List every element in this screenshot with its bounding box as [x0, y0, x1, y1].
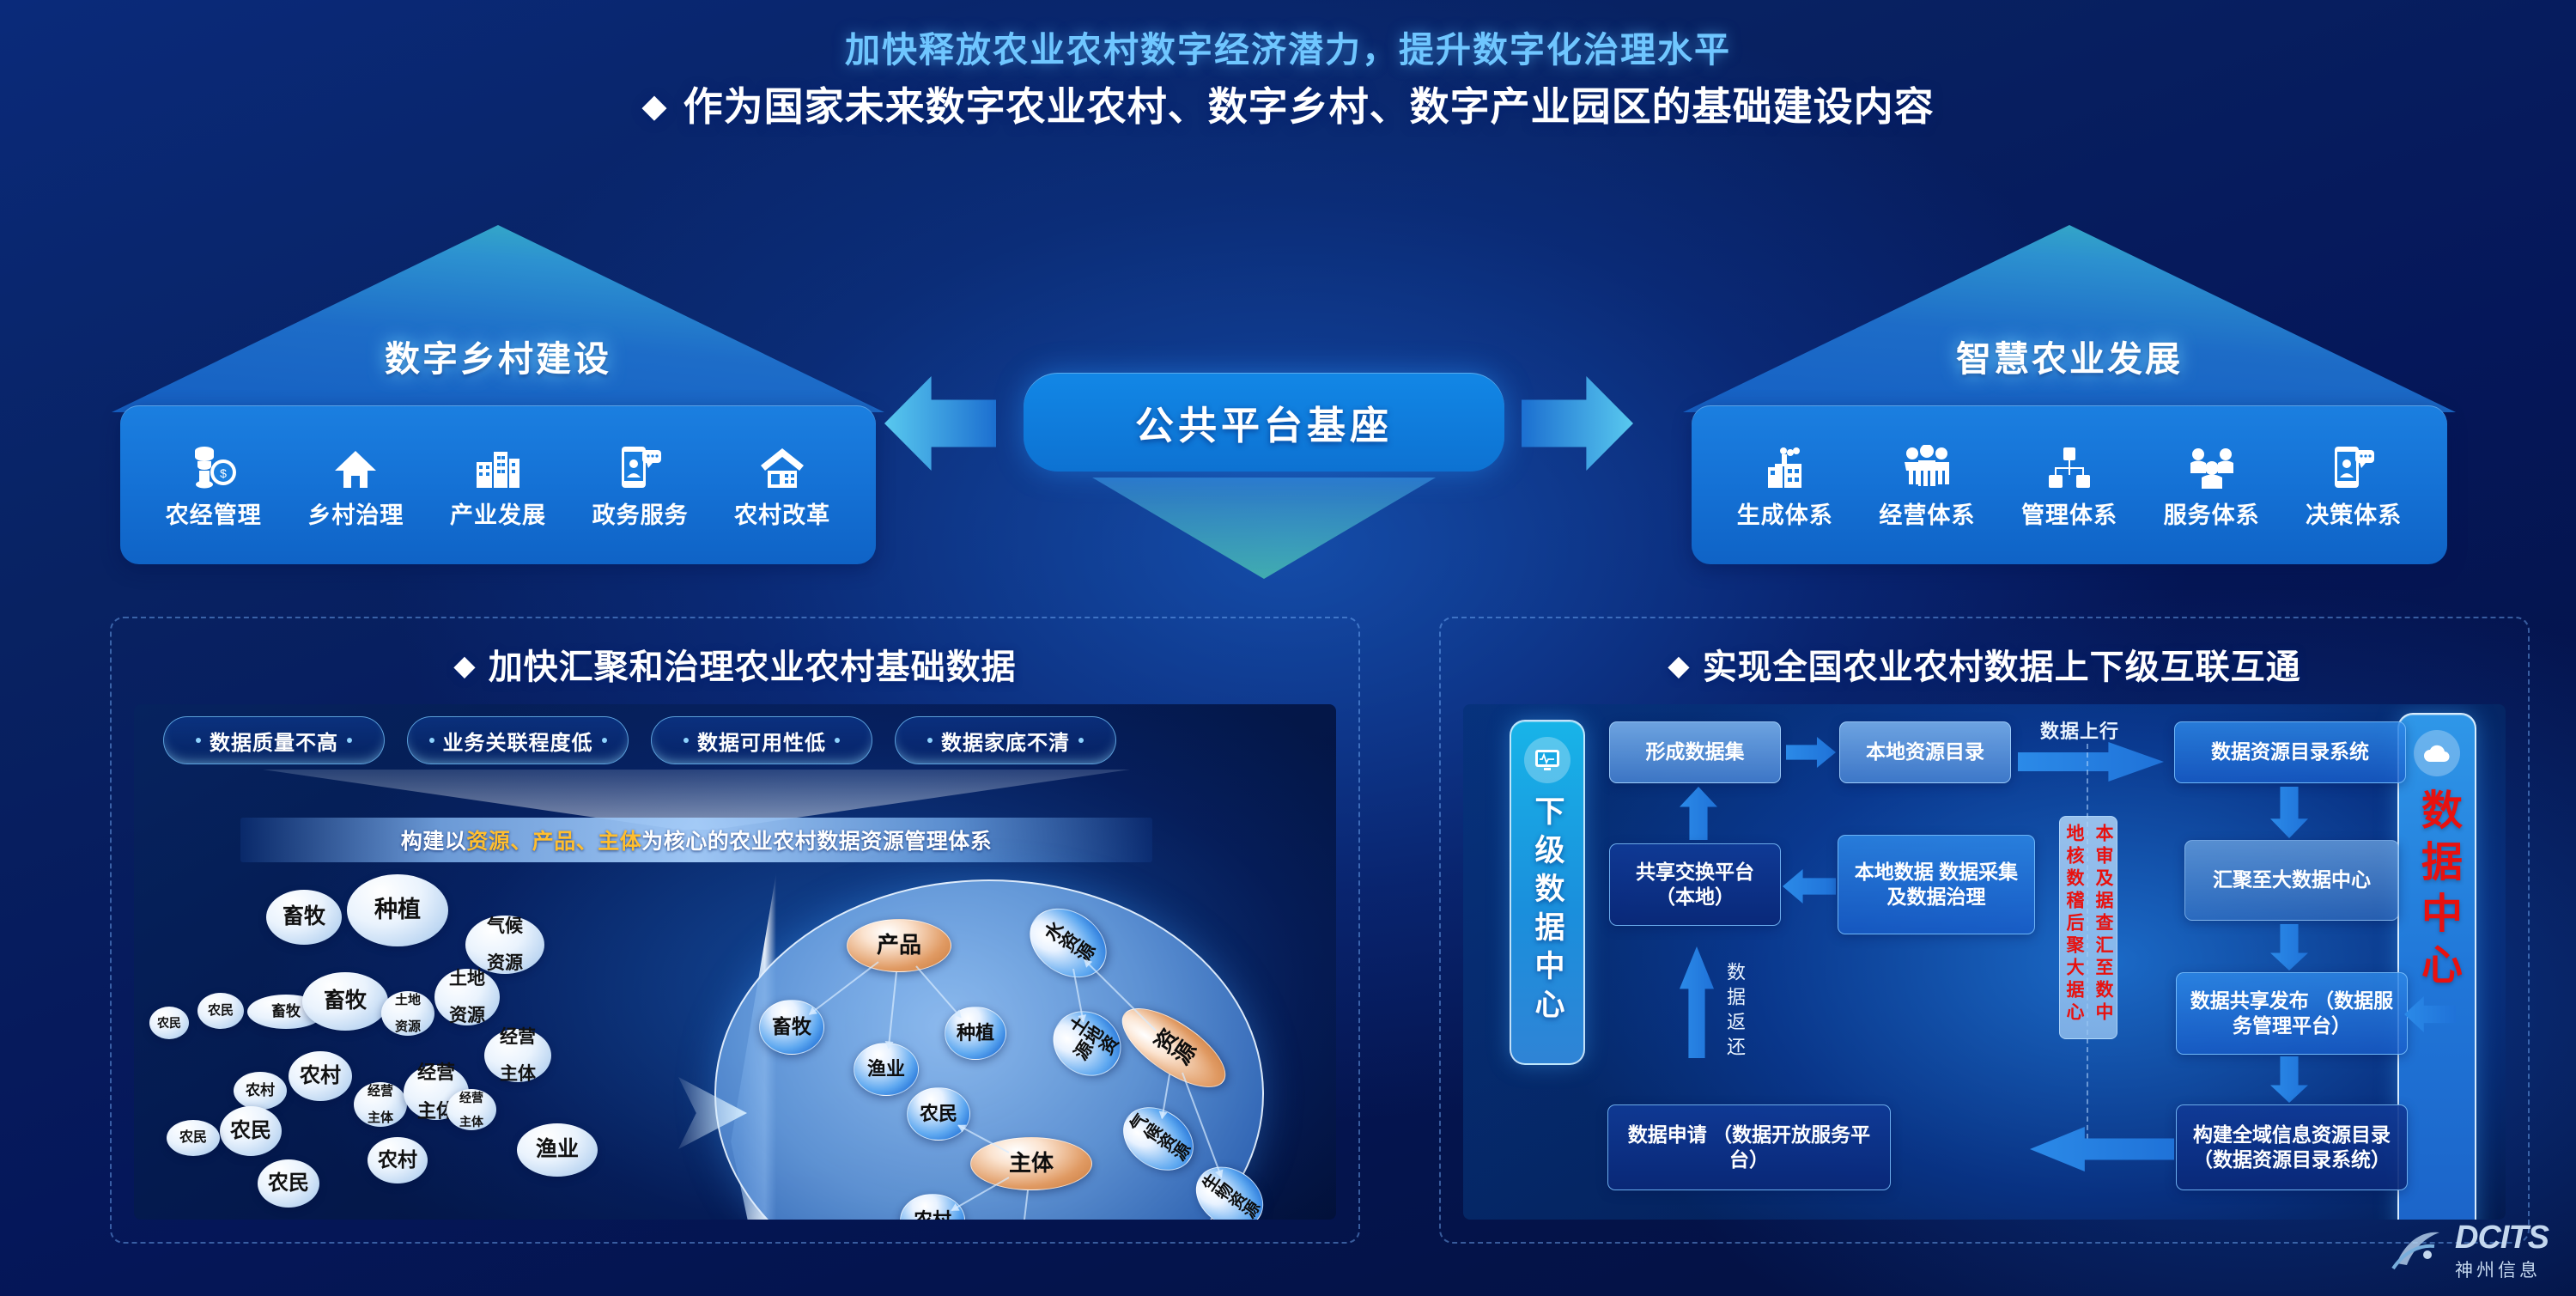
- box-text: 本地资源目录: [1866, 739, 1984, 764]
- bullet-dot-icon: [196, 738, 201, 743]
- issue-pill-label: 数据可用性低: [697, 726, 826, 756]
- feature-operation-system[interactable]: 经营体系: [1862, 440, 1991, 530]
- issue-pill-label: 数据家底不清: [941, 726, 1070, 756]
- box-text: 构建全域信息资源目录 （数据资源目录系统）: [2185, 1123, 2398, 1173]
- core-bubble: 农民: [907, 1087, 970, 1141]
- relation-arrow-icon: [1161, 1074, 1170, 1117]
- messy-bubble: 经营主体: [484, 1029, 551, 1082]
- messy-bubble: 渔业: [517, 1123, 598, 1177]
- factory-icon: [1763, 440, 1807, 490]
- box-local-catalog[interactable]: 本地资源目录: [1839, 721, 2011, 783]
- panel-heading-right-text: 实现全国农业农村数据上下级互联互通: [1703, 648, 2301, 686]
- arrow-downstream-icon: [2030, 1127, 2174, 1171]
- bullet-dot-icon: [835, 738, 840, 743]
- banner-highlight: 资源、产品、主体: [466, 824, 641, 855]
- bullet-dot-icon: [429, 738, 434, 743]
- box-catalog-system[interactable]: 数据资源目录系统: [2174, 721, 2406, 783]
- messy-bubble: 农民: [258, 1159, 319, 1208]
- slide-canvas: 加快释放农业农村数字经济潜力，提升数字化治理水平 ◆作为国家未来数字农业农村、数…: [0, 0, 2576, 1296]
- issue-pill-label: 数据质量不高: [210, 726, 338, 756]
- dcits-mark-icon: [2390, 1224, 2446, 1281]
- diamond-bullet-icon: ◆: [453, 648, 476, 682]
- bullet-dot-icon: [1078, 738, 1084, 743]
- red-note-col-left: 本审及据查汇至数中: [2090, 824, 2116, 1031]
- banner-prefix: 构建以: [401, 824, 467, 855]
- messy-bubble: 种植: [347, 874, 448, 946]
- red-vertical-note: 地核数稽后聚大据心 本审及据查汇至数中: [2059, 816, 2117, 1039]
- core-bubble: 主体: [970, 1137, 1092, 1190]
- core-bubble: 资源: [1110, 994, 1237, 1102]
- box-local-data[interactable]: 本地数据 数据采集及数据治理: [1838, 835, 2035, 934]
- roof-label-smart-agriculture: 智慧农业发展: [1683, 330, 2456, 381]
- box-text: 数据申请 （数据开放服务平台）: [1617, 1123, 1881, 1173]
- arrow-catalog-to-aggregate-icon: [2270, 787, 2308, 838]
- panel-heading-left: ◆加快汇聚和治理农业农村基础数据: [112, 639, 1358, 689]
- messy-bubble: 土地资源: [381, 991, 434, 1036]
- box-text: 数据共享发布 （数据服务管理平台）: [2185, 989, 2398, 1039]
- feature-label: 决策体系: [2306, 496, 2402, 530]
- arrow-publish-to-globalcatalog-icon: [2270, 1056, 2308, 1103]
- issue-pill[interactable]: 数据可用性低: [651, 716, 872, 764]
- panel-data-aggregation: ◆加快汇聚和治理农业农村基础数据 数据质量不高业务关联程度低数据可用性低数据家底…: [110, 617, 1360, 1244]
- logo-cn: 神州信息: [2455, 1256, 2549, 1282]
- bullet-dot-icon: [927, 738, 933, 743]
- diamond-bullet-icon: ◆: [1668, 648, 1690, 682]
- core-bubble: 水资源: [1017, 894, 1120, 991]
- roof-shape: [112, 225, 884, 412]
- box-share-publish[interactable]: 数据共享发布 （数据服务管理平台）: [2176, 972, 2408, 1055]
- arrow-to-right-icon: [1522, 376, 1633, 471]
- messy-bubble: 经营主体: [354, 1082, 407, 1127]
- issue-pill-list: 数据质量不高业务关联程度低数据可用性低数据家底不清: [163, 716, 1116, 764]
- relation-arrow-icon: [809, 961, 879, 1015]
- label-data-upstream: 数据上行: [2040, 716, 2119, 744]
- box-text: 共享交换平台 （本地）: [1619, 860, 1771, 910]
- core-bubble: 产品: [847, 919, 951, 972]
- feature-label: 经营体系: [1879, 496, 1975, 530]
- feature-management-system[interactable]: 管理体系: [2005, 440, 2134, 530]
- org-chart-icon: [2046, 440, 2093, 490]
- relation-arrow-icon: [915, 965, 962, 1018]
- box-exchange-platform[interactable]: 共享交换平台 （本地）: [1609, 843, 1781, 926]
- cloud-icon: [2414, 730, 2460, 776]
- feature-agri-econ-mgmt[interactable]: $ 农经管理: [149, 440, 278, 530]
- core-ellipse: 产品主体资源畜牧渔业种植农民农村经营主体水资源土地资源气候资源生物资源: [714, 879, 1264, 1220]
- issue-pill[interactable]: 数据家底不清: [895, 716, 1116, 764]
- mobile-service-icon: [618, 440, 663, 490]
- core-bubble: 生物资源: [1184, 1154, 1274, 1220]
- data-center-bar[interactable]: 数据中心: [2397, 713, 2476, 1220]
- home-icon: [333, 440, 378, 490]
- svg-text:$: $: [220, 466, 227, 480]
- arrow-dataset-to-catalog-icon: [1786, 737, 1836, 768]
- service-people-icon: [2188, 440, 2236, 490]
- box-text: 本地数据 数据采集及数据治理: [1847, 860, 2026, 910]
- bullet-dot-icon: [347, 738, 352, 743]
- messy-bubble: 畜牧: [266, 890, 342, 945]
- arrow-aggregate-to-publish-icon: [2270, 924, 2308, 970]
- feature-production-system[interactable]: 生成体系: [1721, 440, 1850, 530]
- diamond-bullet-icon: ◆: [641, 87, 667, 125]
- coin-stack-icon: $: [190, 440, 238, 490]
- brand-logo: DCITS 神州信息: [2390, 1221, 2549, 1282]
- feature-village-governance[interactable]: 乡村治理: [291, 440, 420, 530]
- data-center-label: 数据中心: [2407, 788, 2467, 995]
- core-banner: 构建以资源、产品、主体为核心的农业农村数据资源管理体系: [240, 818, 1152, 862]
- feature-service-system[interactable]: 服务体系: [2148, 440, 2276, 530]
- feature-rural-reform[interactable]: 农村改革: [718, 440, 847, 530]
- messy-bubble: 农民: [149, 1007, 189, 1039]
- bullet-dot-icon: [602, 738, 607, 743]
- people-group-icon: [1902, 440, 1952, 490]
- messy-bubble: 土地资源: [434, 969, 500, 1025]
- messy-bubble: 农村: [234, 1072, 287, 1110]
- sub-data-center-label: 下级数据中心: [1526, 795, 1570, 1027]
- roof-shape: [1683, 225, 2456, 412]
- arrow-down-icon: [1092, 478, 1436, 579]
- box-data-request[interactable]: 数据申请 （数据开放服务平台）: [1607, 1104, 1891, 1190]
- bullet-dot-icon: [683, 738, 689, 743]
- panel-data-interconnect: ◆实现全国农业农村数据上下级互联互通 下级数据中心 数据中心 形成数据集 本地资: [1439, 617, 2530, 1244]
- feature-label: 生成体系: [1737, 496, 1833, 530]
- feature-bar-smart-agriculture: 生成体系 经营体系 管理体系 服务体系: [1692, 405, 2447, 564]
- feature-label: 政务服务: [592, 496, 689, 530]
- messy-bubble: 经营主体: [447, 1089, 496, 1130]
- panel-heading-left-text: 加快汇聚和治理农业农村基础数据: [489, 648, 1017, 686]
- relation-arrow-icon: [1023, 1190, 1029, 1220]
- core-bubble: 渔业: [854, 1043, 919, 1096]
- panel-heading-right: ◆实现全国农业农村数据上下级互联互通: [1441, 639, 2528, 689]
- feature-gov-service[interactable]: 政务服务: [576, 440, 705, 530]
- feature-label: 管理体系: [2021, 496, 2117, 530]
- messy-bubble: 农民: [167, 1120, 220, 1156]
- messy-bubble: 农民: [197, 993, 244, 1029]
- box-text: 形成数据集: [1646, 739, 1745, 764]
- platform-label: 公共平台基座: [1135, 394, 1393, 450]
- messy-bubble: 农村: [368, 1137, 428, 1183]
- feature-label: 农村改革: [734, 496, 830, 530]
- logo-en: DCITS: [2455, 1221, 2549, 1254]
- page-title: 加快释放农业农村数字经济潜力，提升数字化治理水平: [0, 21, 2576, 72]
- village-house-icon: [759, 440, 805, 490]
- page-subtitle-text: 作为国家未来数字农业农村、数字乡村、数字产业园区的基础建设内容: [683, 84, 1935, 129]
- issue-pill[interactable]: 业务关联程度低: [407, 716, 629, 764]
- messy-bubble: 畜牧: [302, 972, 388, 1031]
- sub-data-center-bar[interactable]: 下级数据中心: [1510, 720, 1585, 1065]
- messy-bubble: 农民: [220, 1106, 282, 1156]
- arrow-upstream-icon: [2018, 742, 2164, 782]
- messy-bubble: 农村: [289, 1051, 352, 1101]
- core-bubble: 气候资源: [1111, 1094, 1206, 1183]
- box-aggregate-to-bigdata[interactable]: 汇聚至大数据中心: [2184, 840, 2399, 921]
- roof-label-digital-village: 数字乡村建设: [112, 330, 884, 381]
- banner-suffix: 为核心的农业农村数据资源管理体系: [641, 824, 992, 855]
- house-digital-village: 数字乡村建设 $ 农经管理 乡村治理 产业发展: [112, 225, 884, 569]
- core-bubble: 土地资源: [1041, 998, 1133, 1089]
- issue-pill[interactable]: 数据质量不高: [163, 716, 385, 764]
- arrow-exchange-to-dataset-icon: [1680, 787, 1717, 840]
- issue-pill-label: 业务关联程度低: [443, 726, 593, 756]
- red-note-col-right: 地核数稽后聚大据心: [2061, 824, 2087, 1031]
- monitor-pulse-icon: [1524, 737, 1571, 783]
- house-smart-agriculture: 智慧农业发展 生成体系 经营体系 管理体系: [1683, 225, 2456, 569]
- box-global-catalog[interactable]: 构建全域信息资源目录 （数据资源目录系统）: [2176, 1104, 2408, 1190]
- box-text: 汇聚至大数据中心: [2213, 867, 2371, 892]
- label-data-return: 数据返还: [1721, 962, 1748, 1062]
- arrow-localdata-to-exchange-icon: [1783, 869, 1836, 904]
- left-diagram: 数据质量不高业务关联程度低数据可用性低数据家底不清 构建以资源、产品、主体为核心…: [134, 704, 1336, 1220]
- mobile-service-icon: [2331, 440, 2376, 490]
- arrow-to-left-icon: [884, 376, 996, 471]
- feature-label: 产业发展: [450, 496, 546, 530]
- bubble-area: 畜牧种植气候资源农民农民畜牧畜牧土地资源土地资源经营主体农村农村农民农民农民经营…: [148, 873, 1333, 1220]
- box-text: 数据资源目录系统: [2211, 739, 2369, 764]
- right-flowchart: 下级数据中心 数据中心 形成数据集 本地资源目录 数据上行 数据资源目录系统: [1463, 704, 2506, 1220]
- relation-arrow-icon: [888, 972, 897, 1048]
- feature-label: 农经管理: [166, 496, 262, 530]
- feature-label: 服务体系: [2164, 496, 2260, 530]
- page-subtitle: ◆作为国家未来数字农业农村、数字乡村、数字产业园区的基础建设内容: [0, 76, 2576, 132]
- feature-decision-system[interactable]: 决策体系: [2289, 440, 2418, 530]
- feature-label: 乡村治理: [307, 496, 404, 530]
- public-platform-base[interactable]: 公共平台基座: [1024, 373, 1504, 472]
- relation-arrow-icon: [951, 1177, 1009, 1211]
- feature-bar-digital-village: $ 农经管理 乡村治理 产业发展 政务服务: [120, 405, 876, 564]
- buildings-icon: [475, 440, 521, 490]
- feature-industry-dev[interactable]: 产业发展: [434, 440, 562, 530]
- box-form-dataset[interactable]: 形成数据集: [1609, 721, 1781, 783]
- arrow-data-return-icon: [1680, 946, 1714, 1058]
- messy-bubble: 气候资源: [465, 916, 544, 974]
- messy-bubble-cloud: 畜牧种植气候资源农民农民畜牧畜牧土地资源土地资源经营主体农村农村农民农民农民经营…: [148, 873, 749, 1220]
